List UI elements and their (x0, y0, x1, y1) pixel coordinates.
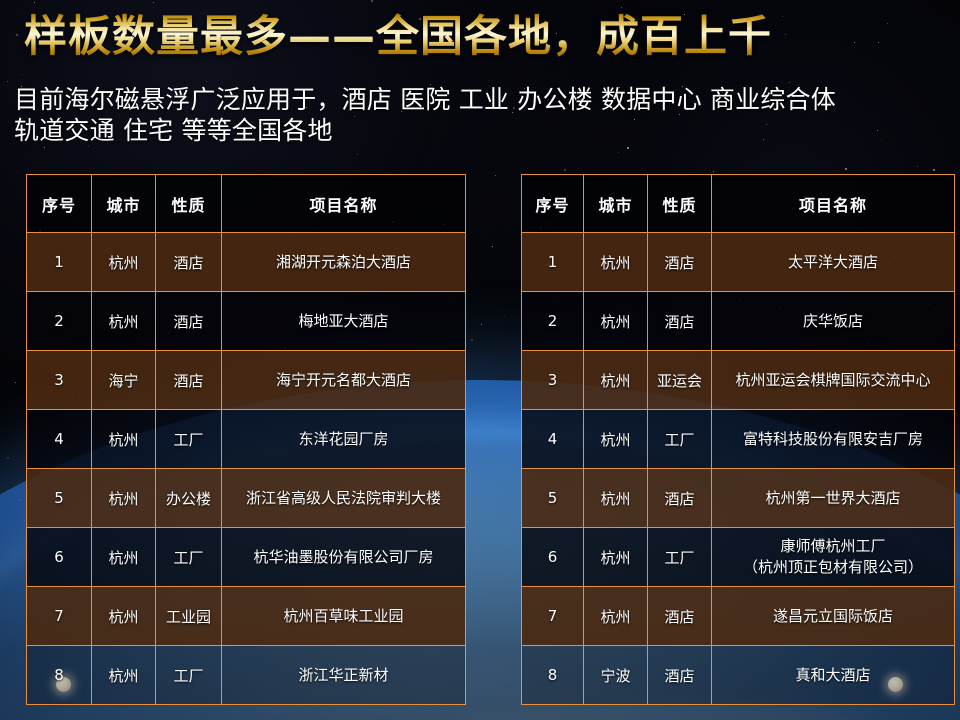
table-row: 3杭州亚运会杭州亚运会棋牌国际交流中心 (522, 351, 955, 410)
cell-index: 3 (522, 351, 584, 410)
table-row: 1杭州酒店湘湖开元森泊大酒店 (27, 233, 466, 292)
table-header-row: 序号城市性质项目名称 (27, 175, 466, 233)
cell-type: 酒店 (156, 351, 222, 410)
column-header-0: 序号 (522, 175, 584, 233)
cell-project-name: 康师傅杭州工厂（杭州顶正包材有限公司） (712, 528, 955, 587)
cell-type: 工厂 (156, 528, 222, 587)
cell-type: 酒店 (156, 292, 222, 351)
cell-city: 杭州 (92, 528, 156, 587)
table-row: 6杭州工厂杭华油墨股份有限公司厂房 (27, 528, 466, 587)
column-header-1: 城市 (92, 175, 156, 233)
cell-type: 酒店 (648, 292, 712, 351)
cell-project-name: 东洋花园厂房 (222, 410, 466, 469)
cell-type: 工业园 (156, 587, 222, 646)
cell-city: 杭州 (584, 587, 648, 646)
cell-city: 杭州 (92, 292, 156, 351)
slide-canvas: 样板数量最多——全国各地，成百上千 目前海尔磁悬浮广泛应用于，酒店 医院 工业 … (0, 0, 960, 720)
cell-index: 4 (27, 410, 92, 469)
cell-type: 办公楼 (156, 469, 222, 528)
cell-type: 酒店 (648, 469, 712, 528)
cell-index: 4 (522, 410, 584, 469)
cell-project-name: 梅地亚大酒店 (222, 292, 466, 351)
cell-project-name: 杭州百草味工业园 (222, 587, 466, 646)
cell-project-name: 真和大酒店 (712, 646, 955, 705)
cell-type: 酒店 (156, 233, 222, 292)
column-header-2: 性质 (156, 175, 222, 233)
cell-type: 工厂 (156, 646, 222, 705)
cell-index: 5 (27, 469, 92, 528)
table-row: 7杭州酒店遂昌元立国际饭店 (522, 587, 955, 646)
table-body: 1杭州酒店湘湖开元森泊大酒店2杭州酒店梅地亚大酒店3海宁酒店海宁开元名都大酒店4… (27, 233, 466, 705)
cell-index: 2 (27, 292, 92, 351)
cell-city: 杭州 (92, 646, 156, 705)
cell-type: 酒店 (648, 587, 712, 646)
table-row: 5杭州酒店杭州第一世界大酒店 (522, 469, 955, 528)
cell-index: 8 (522, 646, 584, 705)
table-header-row: 序号城市性质项目名称 (522, 175, 955, 233)
subtitle-line-2: 轨道交通 住宅 等等全国各地 (14, 115, 944, 146)
cell-project-name: 遂昌元立国际饭店 (712, 587, 955, 646)
cell-city: 杭州 (584, 469, 648, 528)
cell-project-name: 杭州亚运会棋牌国际交流中心 (712, 351, 955, 410)
column-header-0: 序号 (27, 175, 92, 233)
cell-type: 工厂 (648, 528, 712, 587)
table-row: 2杭州酒店庆华饭店 (522, 292, 955, 351)
table-row: 5杭州办公楼浙江省高级人民法院审判大楼 (27, 469, 466, 528)
table-row: 4杭州工厂富特科技股份有限安吉厂房 (522, 410, 955, 469)
cell-city: 杭州 (92, 233, 156, 292)
page-title: 样板数量最多——全国各地，成百上千 (24, 11, 924, 63)
cell-index: 7 (522, 587, 584, 646)
cell-city: 杭州 (584, 351, 648, 410)
cell-index: 5 (522, 469, 584, 528)
subtitle-line-1: 目前海尔磁悬浮广泛应用于，酒店 医院 工业 办公楼 数据中心 商业综合体 (14, 84, 944, 115)
cell-project-name: 海宁开元名都大酒店 (222, 351, 466, 410)
cell-city: 杭州 (92, 469, 156, 528)
projects-table-left: 序号城市性质项目名称 1杭州酒店湘湖开元森泊大酒店2杭州酒店梅地亚大酒店3海宁酒… (26, 174, 466, 705)
cell-project-name: 太平洋大酒店 (712, 233, 955, 292)
table-row: 4杭州工厂东洋花园厂房 (27, 410, 466, 469)
projects-table-right: 序号城市性质项目名称 1杭州酒店太平洋大酒店2杭州酒店庆华饭店3杭州亚运会杭州亚… (521, 174, 955, 705)
cell-city: 宁波 (584, 646, 648, 705)
cell-index: 8 (27, 646, 92, 705)
column-header-1: 城市 (584, 175, 648, 233)
cell-project-name: 湘湖开元森泊大酒店 (222, 233, 466, 292)
table-row: 3海宁酒店海宁开元名都大酒店 (27, 351, 466, 410)
table-body: 1杭州酒店太平洋大酒店2杭州酒店庆华饭店3杭州亚运会杭州亚运会棋牌国际交流中心4… (522, 233, 955, 705)
cell-city: 杭州 (584, 292, 648, 351)
cell-project-name: 庆华饭店 (712, 292, 955, 351)
table-row: 1杭州酒店太平洋大酒店 (522, 233, 955, 292)
table-row: 2杭州酒店梅地亚大酒店 (27, 292, 466, 351)
cell-city: 杭州 (92, 410, 156, 469)
cell-index: 2 (522, 292, 584, 351)
column-header-2: 性质 (648, 175, 712, 233)
cell-project-name: 浙江省高级人民法院审判大楼 (222, 469, 466, 528)
cell-type: 亚运会 (648, 351, 712, 410)
cell-city: 杭州 (92, 587, 156, 646)
cell-index: 6 (27, 528, 92, 587)
cell-project-name: 杭州第一世界大酒店 (712, 469, 955, 528)
table-row: 8宁波酒店真和大酒店 (522, 646, 955, 705)
column-header-3: 项目名称 (712, 175, 955, 233)
cell-index: 3 (27, 351, 92, 410)
table-row: 8杭州工厂浙江华正新材 (27, 646, 466, 705)
cell-city: 杭州 (584, 528, 648, 587)
cell-index: 7 (27, 587, 92, 646)
page-subtitle: 目前海尔磁悬浮广泛应用于，酒店 医院 工业 办公楼 数据中心 商业综合体 轨道交… (14, 84, 944, 146)
cell-type: 工厂 (156, 410, 222, 469)
cell-index: 1 (522, 233, 584, 292)
cell-type: 工厂 (648, 410, 712, 469)
column-header-3: 项目名称 (222, 175, 466, 233)
cell-project-name: 富特科技股份有限安吉厂房 (712, 410, 955, 469)
cell-city: 杭州 (584, 233, 648, 292)
cell-type: 酒店 (648, 233, 712, 292)
cell-index: 6 (522, 528, 584, 587)
table-row: 6杭州工厂康师傅杭州工厂（杭州顶正包材有限公司） (522, 528, 955, 587)
cell-index: 1 (27, 233, 92, 292)
cell-city: 海宁 (92, 351, 156, 410)
cell-city: 杭州 (584, 410, 648, 469)
table-row: 7杭州工业园杭州百草味工业园 (27, 587, 466, 646)
cell-project-name: 杭华油墨股份有限公司厂房 (222, 528, 466, 587)
cell-project-name: 浙江华正新材 (222, 646, 466, 705)
cell-type: 酒店 (648, 646, 712, 705)
